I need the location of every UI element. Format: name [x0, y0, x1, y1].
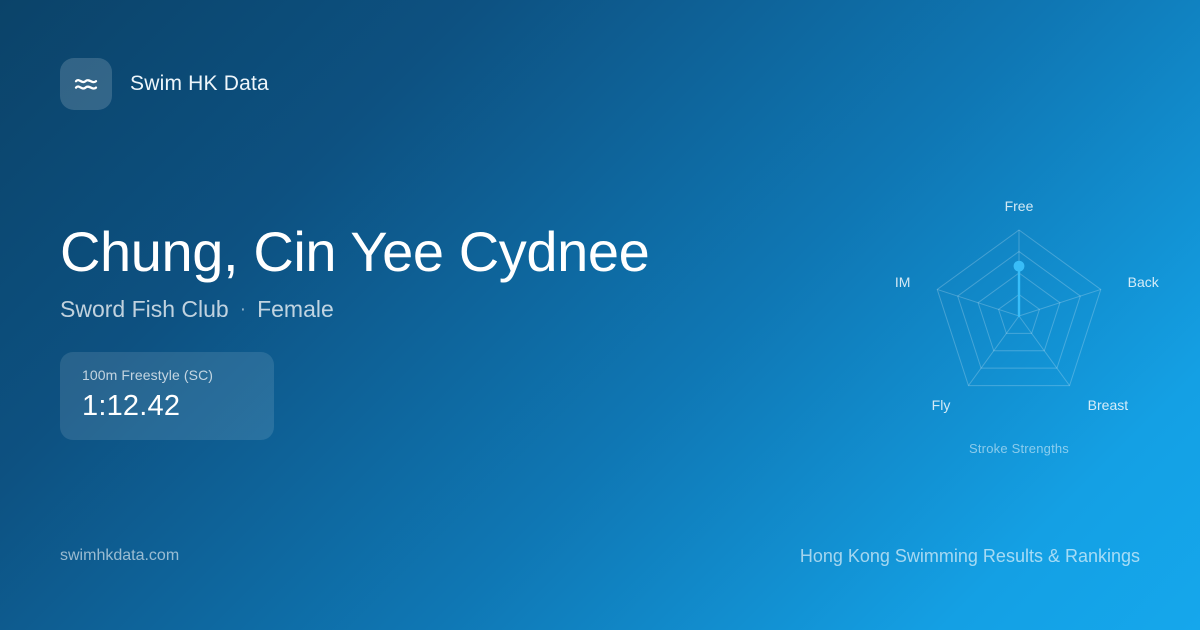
best-time-event-label: 100m Freestyle (SC) — [82, 367, 252, 383]
radar-caption: Stroke Strengths — [849, 441, 1189, 456]
footer-site: swimhkdata.com — [60, 547, 179, 565]
radar-axis-label-fly: Fly — [932, 397, 951, 413]
athlete-gender: Female — [257, 296, 334, 323]
radar-axis-label-im: IM — [895, 274, 911, 290]
page-title: Chung, Cin Yee Cydnee — [60, 222, 720, 282]
share-card: Swim HK Data Chung, Cin Yee Cydnee Sword… — [0, 0, 1200, 630]
athlete-club: Sword Fish Club — [60, 296, 229, 323]
footer-tagline: Hong Kong Swimming Results & Rankings — [800, 546, 1140, 567]
radar-axis-label-back: Back — [1128, 274, 1160, 290]
radar-axis-label-breast: Breast — [1088, 397, 1129, 413]
meta-separator: · — [240, 300, 246, 319]
radar-series — [1014, 261, 1025, 316]
best-time-value: 1:12.42 — [82, 390, 252, 423]
athlete-header: Chung, Cin Yee Cydnee Sword Fish Club · … — [60, 222, 720, 323]
radar-axis-labels: FreeBackBreastFlyIM — [895, 198, 1160, 413]
radar-axis-label-free: Free — [1005, 198, 1034, 214]
wave-icon — [60, 58, 112, 110]
best-time-card: 100m Freestyle (SC) 1:12.42 — [60, 352, 274, 440]
radar-svg: FreeBackBreastFlyIM — [849, 170, 1189, 470]
stroke-strengths-radar: FreeBackBreastFlyIM Stroke Strengths — [849, 170, 1189, 470]
brand-lockup: Swim HK Data — [60, 58, 269, 110]
brand-name: Swim HK Data — [130, 72, 269, 96]
athlete-meta: Sword Fish Club · Female — [60, 296, 720, 323]
